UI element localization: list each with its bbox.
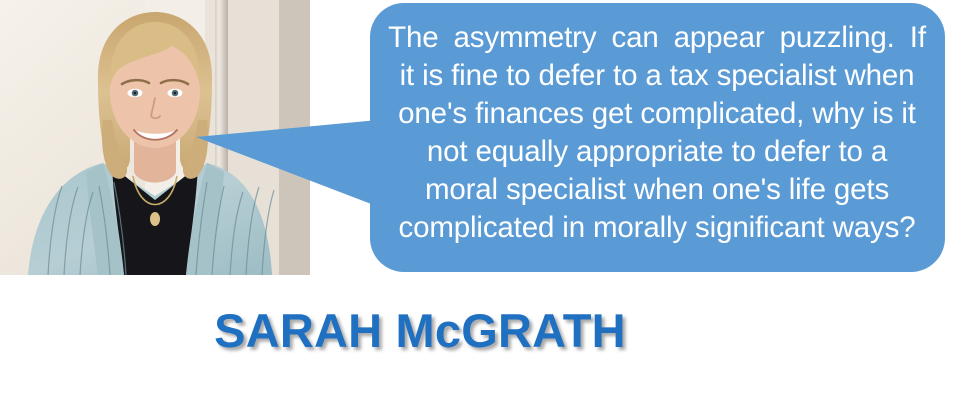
quote-line-6: complicated in morally significant ways?	[374, 209, 940, 247]
quote-line-2: it is fine to defer to a tax specialist …	[374, 57, 940, 95]
quote-line-1: The asymmetry can appear puzzling. If	[374, 19, 940, 57]
quote-line-3: one's finances get complicated, why is i…	[374, 95, 940, 133]
speaker-name: SARAH McGRATH	[0, 303, 840, 358]
portrait-illustration	[0, 0, 310, 275]
quote-line-4: not equally appropriate to defer to a	[374, 133, 940, 171]
quote-text: The asymmetry can appear puzzling. If it…	[374, 19, 940, 259]
quote-line-5: moral specialist when one's life gets	[374, 171, 940, 209]
portrait-photo	[0, 0, 310, 275]
